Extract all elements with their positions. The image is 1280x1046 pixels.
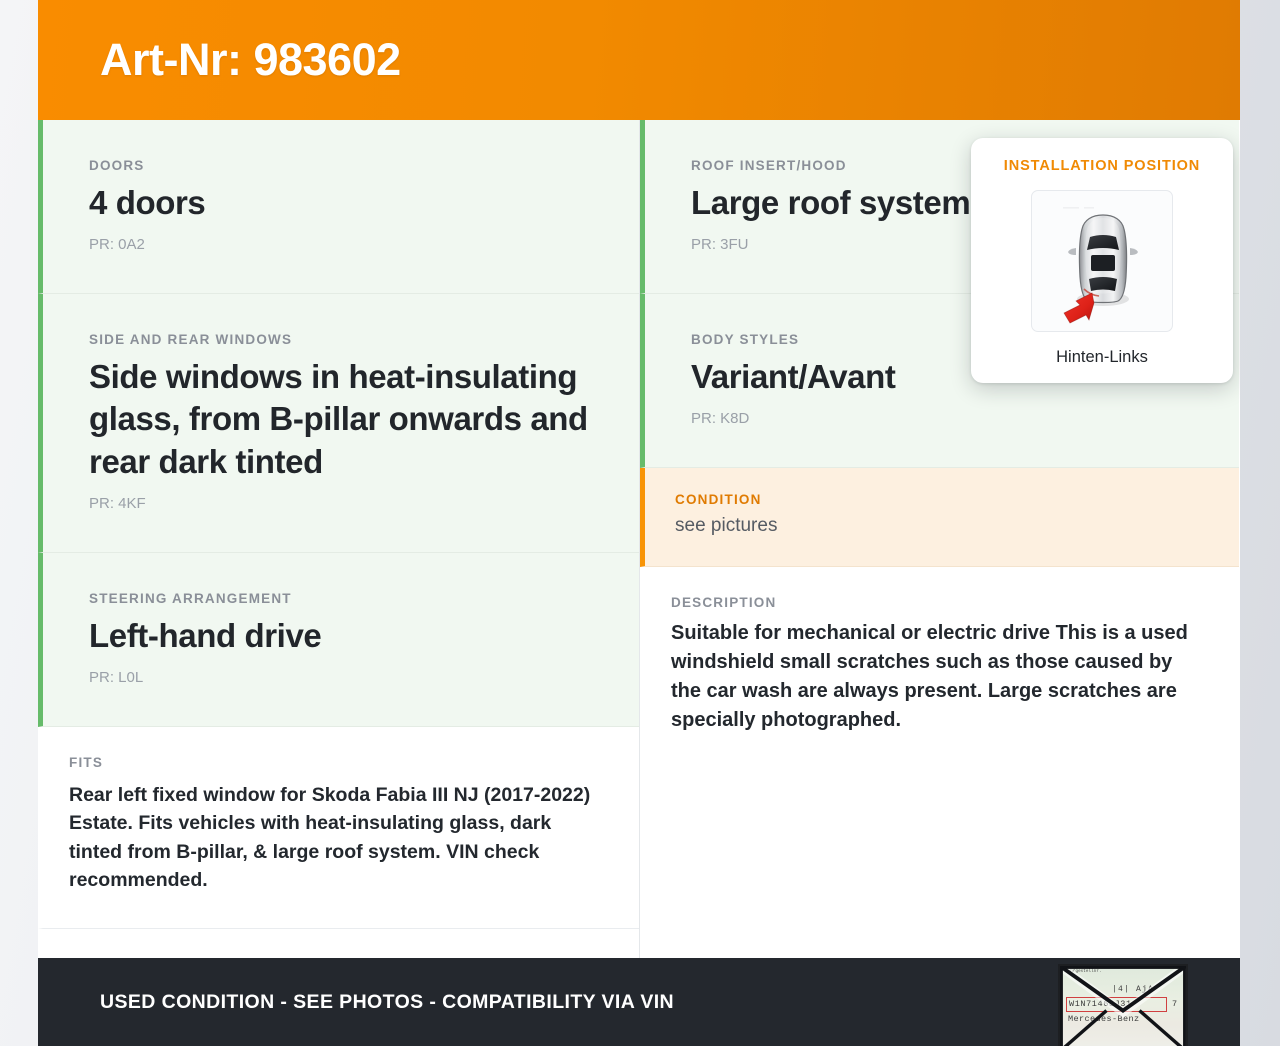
spec-pr-code: PR: 0A2	[89, 236, 593, 253]
vin-envelope-badge[interactable]: Fahrgestellnr. |4| AjA W1N71463J31 7 Mer…	[1058, 964, 1188, 1046]
condition-label: Condition	[675, 492, 1193, 507]
spec-column-left: Doors 4 doors PR: 0A2 Side and rear wind…	[38, 120, 640, 958]
car-roof-panel	[1091, 255, 1115, 271]
spec-row-doors: Doors 4 doors PR: 0A2	[38, 120, 639, 294]
description-label: Description	[671, 595, 1193, 610]
spec-row-steering-arrangement: Steering arrangement Left-hand drive PR:…	[38, 553, 639, 727]
condition-value: see pictures	[675, 513, 1193, 540]
fits-label: Fits	[69, 755, 593, 770]
car-windshield	[1087, 235, 1119, 250]
listing-page: Art-Nr: 983602 Doors 4 doors PR: 0A2 Sid…	[38, 0, 1240, 1046]
spec-value: 4 doors	[89, 182, 593, 224]
description-block: Description Suitable for mechanical or e…	[640, 567, 1239, 769]
spec-pr-code: PR: L0L	[89, 669, 593, 686]
spec-value: Side windows in heat-insulating glass, f…	[89, 356, 593, 483]
installation-position-title: Installation Position	[987, 158, 1217, 174]
description-text: Suitable for mechanical or electric driv…	[671, 619, 1193, 735]
car-rear-window	[1089, 277, 1117, 291]
spec-label: Doors	[89, 158, 593, 173]
spec-value: Left-hand drive	[89, 615, 593, 657]
spec-pr-code: PR: K8D	[691, 410, 1193, 427]
car-mirror-right-icon	[1130, 248, 1138, 255]
spec-label: Side and rear windows	[89, 332, 593, 347]
spec-pr-code: PR: 4KF	[89, 495, 593, 512]
car-top-view-icon	[1032, 191, 1174, 333]
spec-grid: Doors 4 doors PR: 0A2 Side and rear wind…	[38, 120, 1240, 958]
spec-row-side-and-rear-windows: Side and rear windows Side windows in he…	[38, 294, 639, 553]
page-footer: Used condition - See photos - Compatibil…	[38, 958, 1240, 1046]
page-title: Art-Nr: 983602	[100, 34, 401, 86]
fits-block: Fits Rear left fixed window for Skoda Fa…	[38, 727, 639, 929]
footer-banner-text: Used condition - See photos - Compatibil…	[100, 991, 674, 1014]
installation-position-card[interactable]: Installation Position	[971, 138, 1233, 383]
watermark-lines	[1063, 207, 1094, 209]
page-header: Art-Nr: 983602	[38, 0, 1240, 120]
car-mirror-left-icon	[1068, 248, 1076, 255]
condition-block: Condition see pictures	[640, 468, 1239, 567]
installation-position-caption: Hinten-Links	[987, 348, 1217, 367]
envelope-icon	[1060, 966, 1186, 1046]
spec-label: Steering arrangement	[89, 591, 593, 606]
fits-text: Rear left fixed window for Skoda Fabia I…	[69, 781, 593, 894]
installation-position-figure	[1031, 190, 1173, 332]
